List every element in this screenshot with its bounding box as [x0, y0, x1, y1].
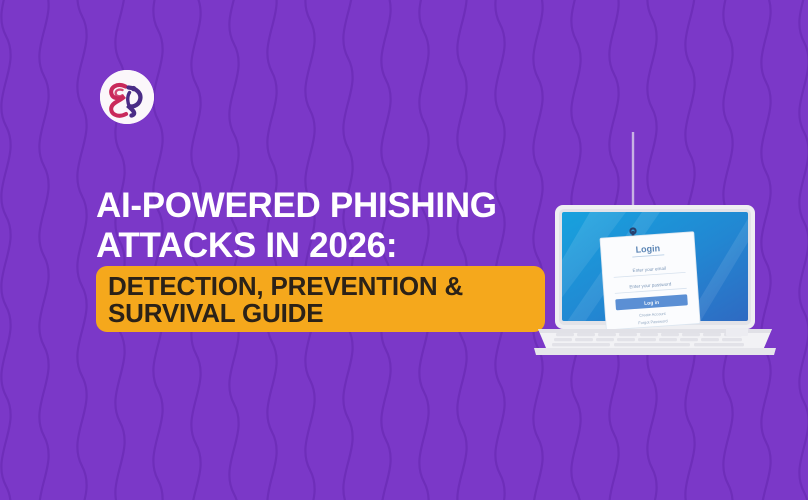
laptop-illustration: Login Enter your email Enter your passwo… [530, 132, 780, 362]
phishing-login-card: Login Enter your email Enter your passwo… [600, 232, 700, 330]
laptop-front-edge [534, 348, 776, 355]
headline-line-1: AI-POWERED PHISHING [96, 186, 566, 226]
subtitle-line-1: DETECTION, PREVENTION & [108, 273, 545, 300]
login-submit-label: Log in [644, 300, 659, 307]
phishing-guide-banner: AI-POWERED PHISHING ATTACKS IN 2026: DET… [0, 0, 808, 500]
login-card-title: Login [635, 243, 660, 255]
butterfly-icon [100, 70, 154, 124]
subtitle-line-2: SURVIVAL GUIDE [108, 300, 545, 327]
page-title: AI-POWERED PHISHING ATTACKS IN 2026: [96, 186, 566, 266]
laptop-trackpad [726, 328, 748, 336]
brand-logo[interactable] [100, 70, 154, 124]
laptop-keyboard [552, 333, 744, 346]
subtitle-badge: DETECTION, PREVENTION & SURVIVAL GUIDE [96, 266, 545, 332]
phishing-illustration: Login Enter your email Enter your passwo… [530, 132, 780, 362]
laptop-spacebar [614, 343, 690, 346]
headline-line-2: ATTACKS IN 2026: [96, 226, 566, 266]
